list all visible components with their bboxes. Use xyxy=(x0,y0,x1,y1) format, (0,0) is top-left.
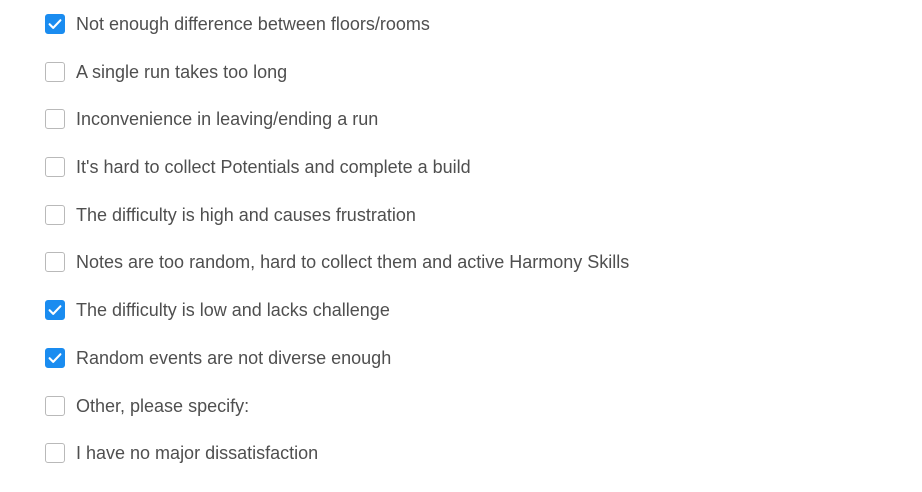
checkbox-option-label: The difficulty is high and causes frustr… xyxy=(76,205,416,225)
checkbox-option-label: I have no major dissatisfaction xyxy=(76,443,318,463)
checkbox-unchecked-icon[interactable] xyxy=(45,109,65,129)
checkbox-checked-icon[interactable] xyxy=(45,14,65,34)
checkbox-option-label: A single run takes too long xyxy=(76,62,287,82)
checkbox-option-label: Random events are not diverse enough xyxy=(76,348,391,368)
checkbox-checked-icon[interactable] xyxy=(45,300,65,320)
checkbox-option-row[interactable]: I have no major dissatisfaction xyxy=(45,443,318,463)
checkbox-checked-icon[interactable] xyxy=(45,348,65,368)
checkbox-option-row[interactable]: Not enough difference between floors/roo… xyxy=(45,14,430,34)
checkbox-option-row[interactable]: Other, please specify: xyxy=(45,396,249,416)
checkbox-option-row[interactable]: The difficulty is high and causes frustr… xyxy=(45,205,416,225)
checkbox-option-row[interactable]: A single run takes too long xyxy=(45,62,287,82)
checkbox-unchecked-icon[interactable] xyxy=(45,443,65,463)
checkbox-option-label: The difficulty is low and lacks challeng… xyxy=(76,300,390,320)
checkbox-unchecked-icon[interactable] xyxy=(45,205,65,225)
checkbox-option-label: Notes are too random, hard to collect th… xyxy=(76,252,629,272)
checkbox-option-row[interactable]: It's hard to collect Potentials and comp… xyxy=(45,157,471,177)
checkbox-unchecked-icon[interactable] xyxy=(45,62,65,82)
checkbox-unchecked-icon[interactable] xyxy=(45,252,65,272)
checkbox-unchecked-icon[interactable] xyxy=(45,157,65,177)
checkbox-option-row[interactable]: Notes are too random, hard to collect th… xyxy=(45,252,629,272)
checkbox-option-label: It's hard to collect Potentials and comp… xyxy=(76,157,471,177)
checkbox-unchecked-icon[interactable] xyxy=(45,396,65,416)
checkbox-option-label: Other, please specify: xyxy=(76,396,249,416)
checkbox-option-row[interactable]: Inconvenience in leaving/ending a run xyxy=(45,109,378,129)
checkbox-option-label: Not enough difference between floors/roo… xyxy=(76,14,430,34)
checkbox-option-row[interactable]: The difficulty is low and lacks challeng… xyxy=(45,300,390,320)
checkbox-option-list: Not enough difference between floors/roo… xyxy=(0,0,922,463)
checkbox-option-row[interactable]: Random events are not diverse enough xyxy=(45,348,391,368)
checkbox-option-label: Inconvenience in leaving/ending a run xyxy=(76,109,378,129)
